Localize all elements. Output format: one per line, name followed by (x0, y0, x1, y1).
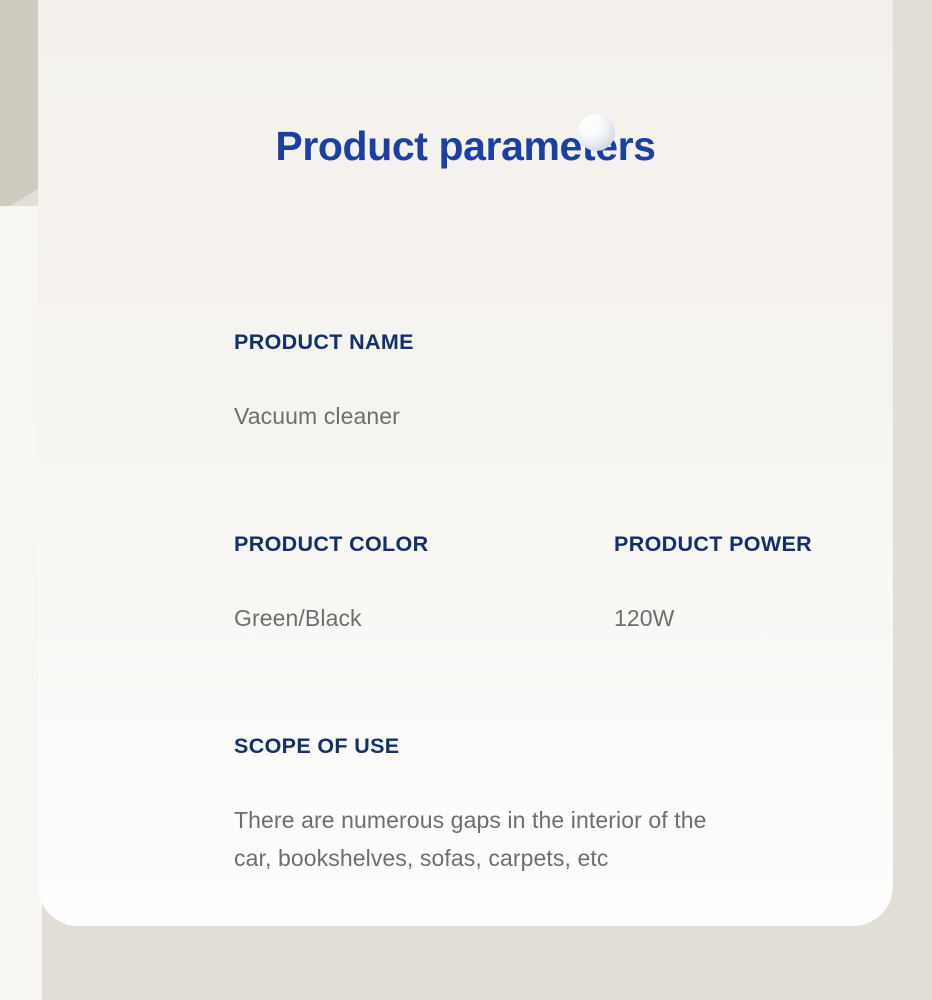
field-label-product-color: PRODUCT COLOR (234, 532, 428, 557)
field-product-power: PRODUCT POWER 120W (614, 532, 812, 638)
page-title-container: Product parameters (38, 126, 893, 167)
field-product-color: PRODUCT COLOR Green/Black (234, 532, 428, 638)
gradient-sphere-icon (578, 114, 615, 151)
field-label-product-name: PRODUCT NAME (234, 330, 414, 355)
field-value-scope-of-use: There are numerous gaps in the interior … (234, 802, 707, 878)
left-background-slab (0, 0, 42, 212)
field-scope-of-use: SCOPE OF USE There are numerous gaps in … (234, 734, 707, 878)
field-label-scope-of-use: SCOPE OF USE (234, 734, 707, 759)
field-label-product-power: PRODUCT POWER (614, 532, 812, 557)
product-parameters-card: Product parameters PRODUCT NAME Vacuum c… (38, 0, 893, 926)
product-parameters-screen: Product parameters PRODUCT NAME Vacuum c… (0, 0, 932, 1000)
left-background-strip (0, 206, 42, 1000)
field-value-product-power: 120W (614, 600, 812, 638)
field-product-name: PRODUCT NAME Vacuum cleaner (234, 330, 414, 436)
field-value-product-name: Vacuum cleaner (234, 398, 414, 436)
field-value-product-color: Green/Black (234, 600, 428, 638)
